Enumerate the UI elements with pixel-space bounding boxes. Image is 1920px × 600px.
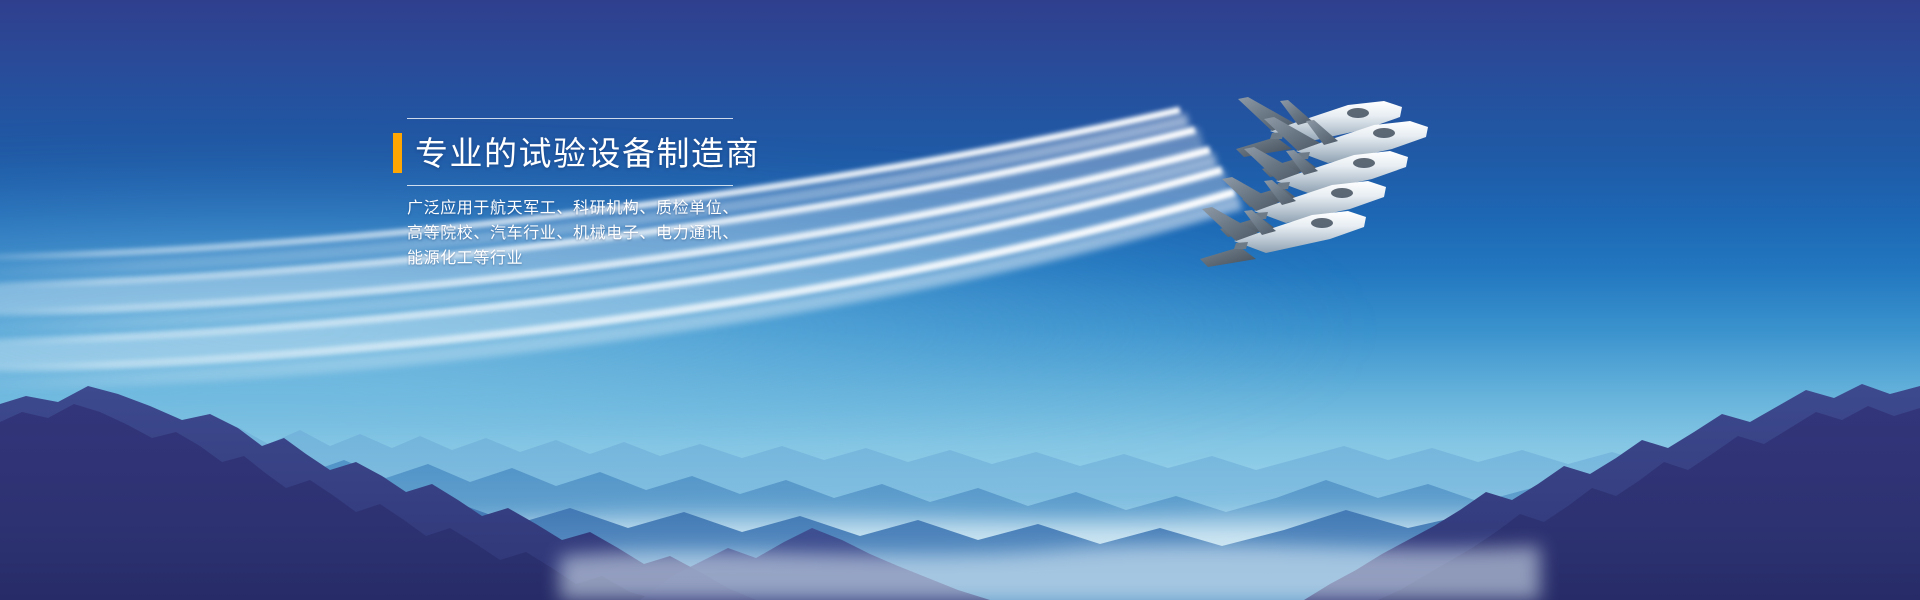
accent-bar bbox=[393, 133, 402, 173]
hero-banner: 专业的试验设备制造商 广泛应用于航天军工、科研机构、质检单位、 高等院校、汽车行… bbox=[0, 0, 1920, 600]
mountain-range-silhouette bbox=[0, 350, 1920, 600]
subtitle-line-3: 能源化工等行业 bbox=[407, 247, 733, 272]
headline-row: 专业的试验设备制造商 bbox=[393, 133, 733, 173]
page-title: 专业的试验设备制造商 bbox=[415, 137, 760, 170]
headline-rule-bottom bbox=[407, 185, 733, 186]
hero-text-block: 专业的试验设备制造商 广泛应用于航天军工、科研机构、质检单位、 高等院校、汽车行… bbox=[393, 118, 733, 271]
subtitle-line-2: 高等院校、汽车行业、机械电子、电力通讯、 bbox=[407, 222, 733, 247]
subtitle-line-1: 广泛应用于航天军工、科研机构、质检单位、 bbox=[407, 197, 733, 222]
fighter-jet-formation bbox=[1130, 45, 1510, 275]
subtitle: 广泛应用于航天军工、科研机构、质检单位、 高等院校、汽车行业、机械电子、电力通讯… bbox=[407, 197, 733, 271]
headline-rule-top bbox=[407, 118, 733, 119]
